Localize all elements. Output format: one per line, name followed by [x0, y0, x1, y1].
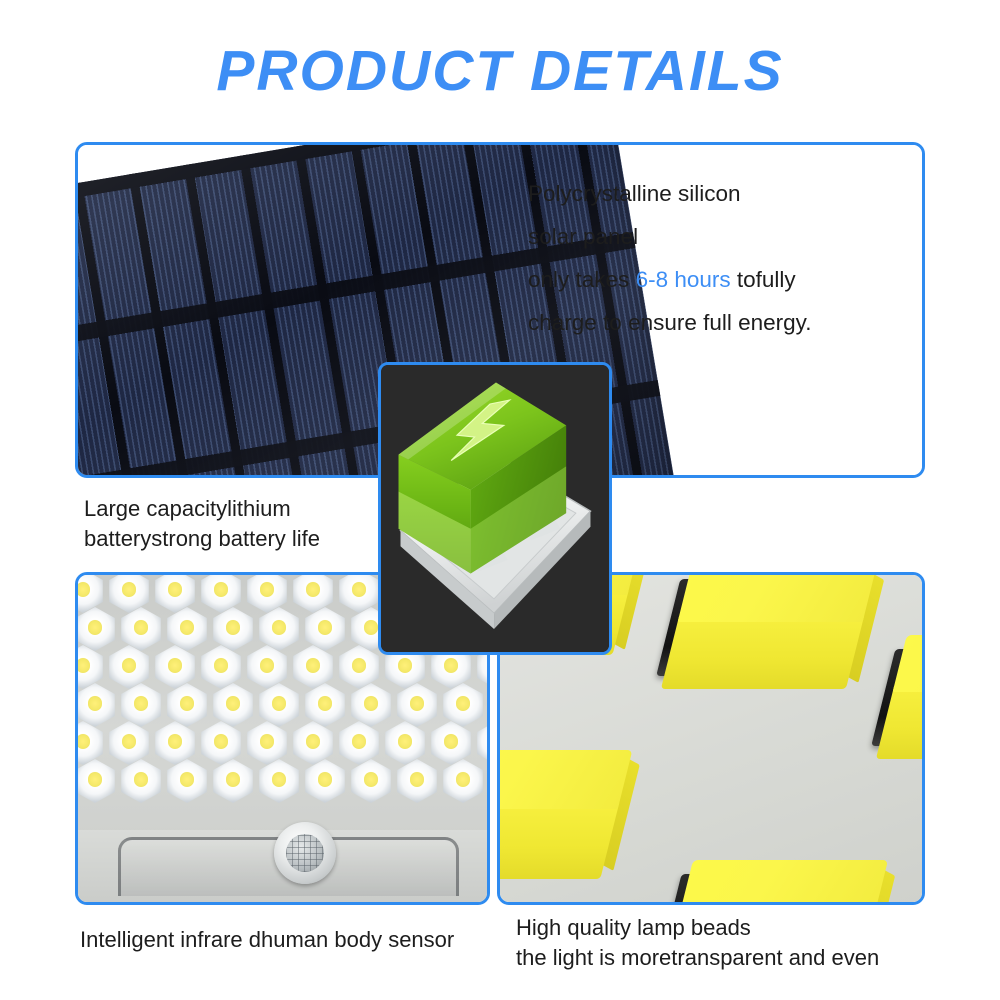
beads-caption: High quality lamp beads the light is mor…: [516, 913, 986, 973]
led-lens: [198, 572, 244, 613]
solar-description: Polycrystalline silicon solar panel only…: [528, 172, 918, 344]
bead-top-face: [678, 860, 888, 905]
led-lens: [152, 721, 198, 765]
solar-description-line-1: Polycrystalline silicon: [528, 172, 918, 215]
led-lens: [75, 721, 106, 765]
led-lens: [198, 645, 244, 689]
led-lens: [106, 645, 152, 689]
battery-caption-line-1: Large capacitylithium: [84, 494, 414, 524]
led-lens: [336, 572, 382, 613]
battery-compartment-illustration: [381, 365, 609, 650]
led-lens: [302, 607, 348, 651]
led-lens: [474, 721, 490, 765]
led-lens: [75, 759, 118, 803]
led-lens: [210, 607, 256, 651]
battery-image-frame: [378, 362, 612, 655]
solar-description-line-3: only takes 6-8 hours tofully: [528, 258, 918, 301]
led-lens: [198, 721, 244, 765]
led-lens: [75, 607, 118, 651]
led-lens: [210, 683, 256, 727]
led-lens: [244, 645, 290, 689]
product-details-page: PRODUCT DETAILS Polycrystalline silicon …: [0, 0, 1000, 1000]
led-lens: [440, 759, 486, 803]
led-lens: [382, 721, 428, 765]
pir-motion-sensor-dome: [274, 822, 336, 884]
led-lens: [152, 645, 198, 689]
solar-description-line-4: charge to ensure full energy.: [528, 301, 918, 344]
bead-front-face: [497, 803, 619, 879]
led-lens: [210, 759, 256, 803]
sensor-caption: Intelligent infrare dhuman body sensor: [80, 925, 454, 955]
led-lens: [164, 607, 210, 651]
led-lens: [348, 759, 394, 803]
lamp-bead: [658, 572, 877, 700]
led-lens: [440, 683, 486, 727]
led-lens: [244, 572, 290, 613]
bead-top-face: [497, 750, 632, 809]
solar-description-line-2: solar panel: [528, 215, 918, 258]
led-lens: [75, 683, 118, 727]
solar-description-line-3-pre: only takes: [528, 267, 636, 292]
led-lens: [118, 607, 164, 651]
beads-caption-line-1: High quality lamp beads: [516, 913, 986, 943]
led-lens: [244, 721, 290, 765]
led-lens: [394, 759, 440, 803]
led-lens: [106, 721, 152, 765]
led-lens: [256, 607, 302, 651]
led-lens: [164, 683, 210, 727]
led-lens: [336, 645, 382, 689]
led-lens: [118, 683, 164, 727]
led-lens: [302, 759, 348, 803]
led-lens: [394, 683, 440, 727]
led-lens: [290, 645, 336, 689]
page-title: PRODUCT DETAILS: [0, 38, 1000, 104]
led-lens: [75, 572, 106, 613]
led-lens: [290, 572, 336, 613]
solar-description-line-3-post: tofully: [731, 267, 796, 292]
led-lens: [106, 572, 152, 613]
led-lens: [256, 683, 302, 727]
led-lens: [290, 721, 336, 765]
battery-caption-line-2: batterystrong battery life: [84, 524, 414, 554]
led-lens: [486, 759, 490, 803]
battery-caption: Large capacitylithium batterystrong batt…: [84, 494, 414, 554]
bead-front-face: [661, 616, 864, 689]
led-lens: [486, 683, 490, 727]
led-lens: [75, 645, 106, 689]
charge-time-highlight: 6-8 hours: [636, 267, 731, 292]
beads-caption-line-2: the light is moretransparent and even: [516, 943, 986, 973]
led-lens: [256, 759, 302, 803]
led-lens: [152, 572, 198, 613]
led-lens: [348, 683, 394, 727]
led-lens: [164, 759, 210, 803]
led-lens: [428, 721, 474, 765]
led-lens: [336, 721, 382, 765]
lamp-bead: [497, 750, 632, 890]
lamp-bead: [657, 860, 888, 905]
led-lens: [302, 683, 348, 727]
led-lens: [118, 759, 164, 803]
bead-top-face: [678, 572, 877, 622]
